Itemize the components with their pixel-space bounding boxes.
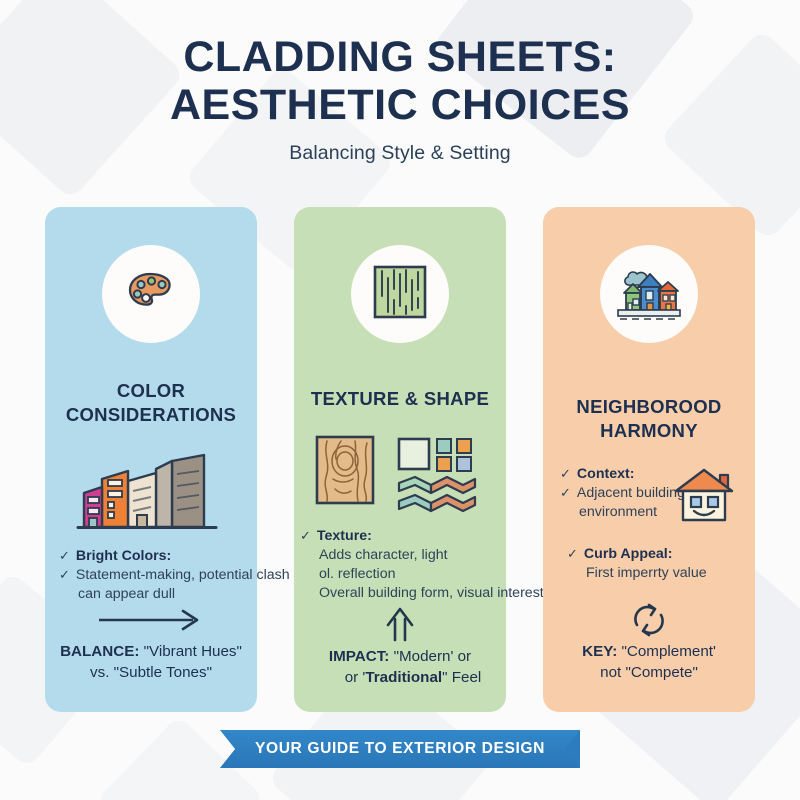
card-neighborhood-harmony[interactable]: NEIGHBOROOD HARMONY ✓ Context: ✓ Adjacen… [543, 207, 755, 712]
card2-badge [351, 245, 449, 343]
bullet-item: ✓ Statement-making, potential clash [59, 566, 290, 585]
check-icon: ✓ [560, 484, 571, 501]
body-line-1: Adds character, light [300, 546, 544, 565]
infographic-page: CLADDING SHEETS: AESTHETIC CHOICES Balan… [0, 0, 800, 800]
summary-lead: KEY: [582, 643, 617, 660]
card1-badge [102, 245, 200, 343]
summary-line2-bold: Traditional [365, 669, 442, 686]
check-icon: ✓ [300, 527, 311, 544]
footer: YOUR GUIDE TO EXTERIOR DESIGN [0, 730, 800, 768]
bullet-label: Curb Appeal: [584, 545, 673, 564]
summary-line2-pre: or ' [345, 669, 366, 686]
bullet-continuation: First imperrty value [567, 564, 707, 583]
card-texture-and-shape[interactable]: TEXTURE & SHAPE [294, 207, 506, 712]
card3-divider [543, 597, 755, 648]
bullet-item: ✓ Curb Appeal: [567, 545, 707, 564]
card3-summary: KEY: "Complement' not "Compete" [543, 642, 755, 683]
bullet-item: ✓ Texture: [300, 527, 544, 546]
summary-line2: vs. "Subtle Tones" [45, 663, 257, 684]
three-houses-icon [616, 261, 682, 328]
summary-line2-post: " Feel [442, 669, 481, 686]
summary-line1: "Vibrant Hues" [139, 643, 242, 660]
card1-summary: BALANCE: "Vibrant Hues" vs. "Subtle Tone… [45, 642, 257, 683]
ribbon-label: YOUR GUIDE TO EXTERIOR DESIGN [255, 740, 545, 758]
cards-container: COLOR CONSIDERATIONS [0, 207, 800, 712]
card2-illustration [294, 429, 506, 522]
summary-line1: "Complement' [617, 643, 716, 660]
card2-divider [294, 605, 506, 648]
bullet-item: ✓ Bright Colors: [59, 547, 290, 566]
card-color-considerations[interactable]: COLOR CONSIDERATIONS [45, 207, 257, 712]
card3-illustration [661, 465, 751, 532]
card2-summary: IMPACT: "Modern' or or 'Traditional" Fee… [294, 647, 506, 688]
footer-ribbon[interactable]: YOUR GUIDE TO EXTERIOR DESIGN [220, 730, 580, 768]
body-line-3: Overall building form, visual interest [300, 584, 544, 603]
bullet-label: Statement-making, potential clash [76, 566, 290, 585]
summary-line2: not "Compete" [543, 663, 755, 684]
bullet-label: Texture: [317, 527, 372, 546]
card1-title: COLOR CONSIDERATIONS [45, 379, 257, 426]
card2-bullets: ✓ Texture: Adds character, light ol. ref… [300, 527, 544, 603]
bullet-continuation: can appear dull [59, 585, 290, 604]
card1-divider [45, 609, 257, 636]
card2-title: TEXTURE & SHAPE [294, 387, 506, 411]
page-subtitle: Balancing Style & Setting [0, 142, 800, 165]
card3-bullets-2: ✓ Curb Appeal: First imperrty value [567, 545, 707, 583]
check-icon: ✓ [59, 566, 70, 583]
check-icon: ✓ [567, 545, 578, 562]
check-icon: ✓ [560, 465, 571, 482]
wood-grain-and-shapes-icon [311, 429, 489, 522]
card1-illustration [45, 447, 257, 544]
smiling-house-icon [671, 465, 741, 532]
card3-badge [600, 245, 698, 343]
summary-lead: BALANCE: [60, 643, 139, 660]
bullet-label: Bright Colors: [76, 547, 171, 566]
wood-grain-swatch-icon [370, 262, 430, 327]
right-arrow-icon [97, 609, 205, 636]
body-line-2: ol. reflection [300, 565, 544, 584]
city-buildings-icon [76, 447, 226, 544]
summary-lead: IMPACT: [329, 648, 389, 665]
card1-bullets: ✓ Bright Colors: ✓ Statement-making, pot… [59, 547, 290, 604]
recycle-loop-icon [626, 597, 672, 648]
up-arrow-icon [383, 605, 417, 648]
check-icon: ✓ [59, 547, 70, 564]
card3-title: NEIGHBOROOD HARMONY [543, 395, 755, 442]
paint-palette-icon [119, 260, 183, 329]
bullet-label: Context: [577, 465, 635, 484]
summary-line1: "Modern' or [389, 648, 471, 665]
header: CLADDING SHEETS: AESTHETIC CHOICES Balan… [0, 0, 800, 165]
page-title: CLADDING SHEETS: AESTHETIC CHOICES [0, 33, 800, 129]
